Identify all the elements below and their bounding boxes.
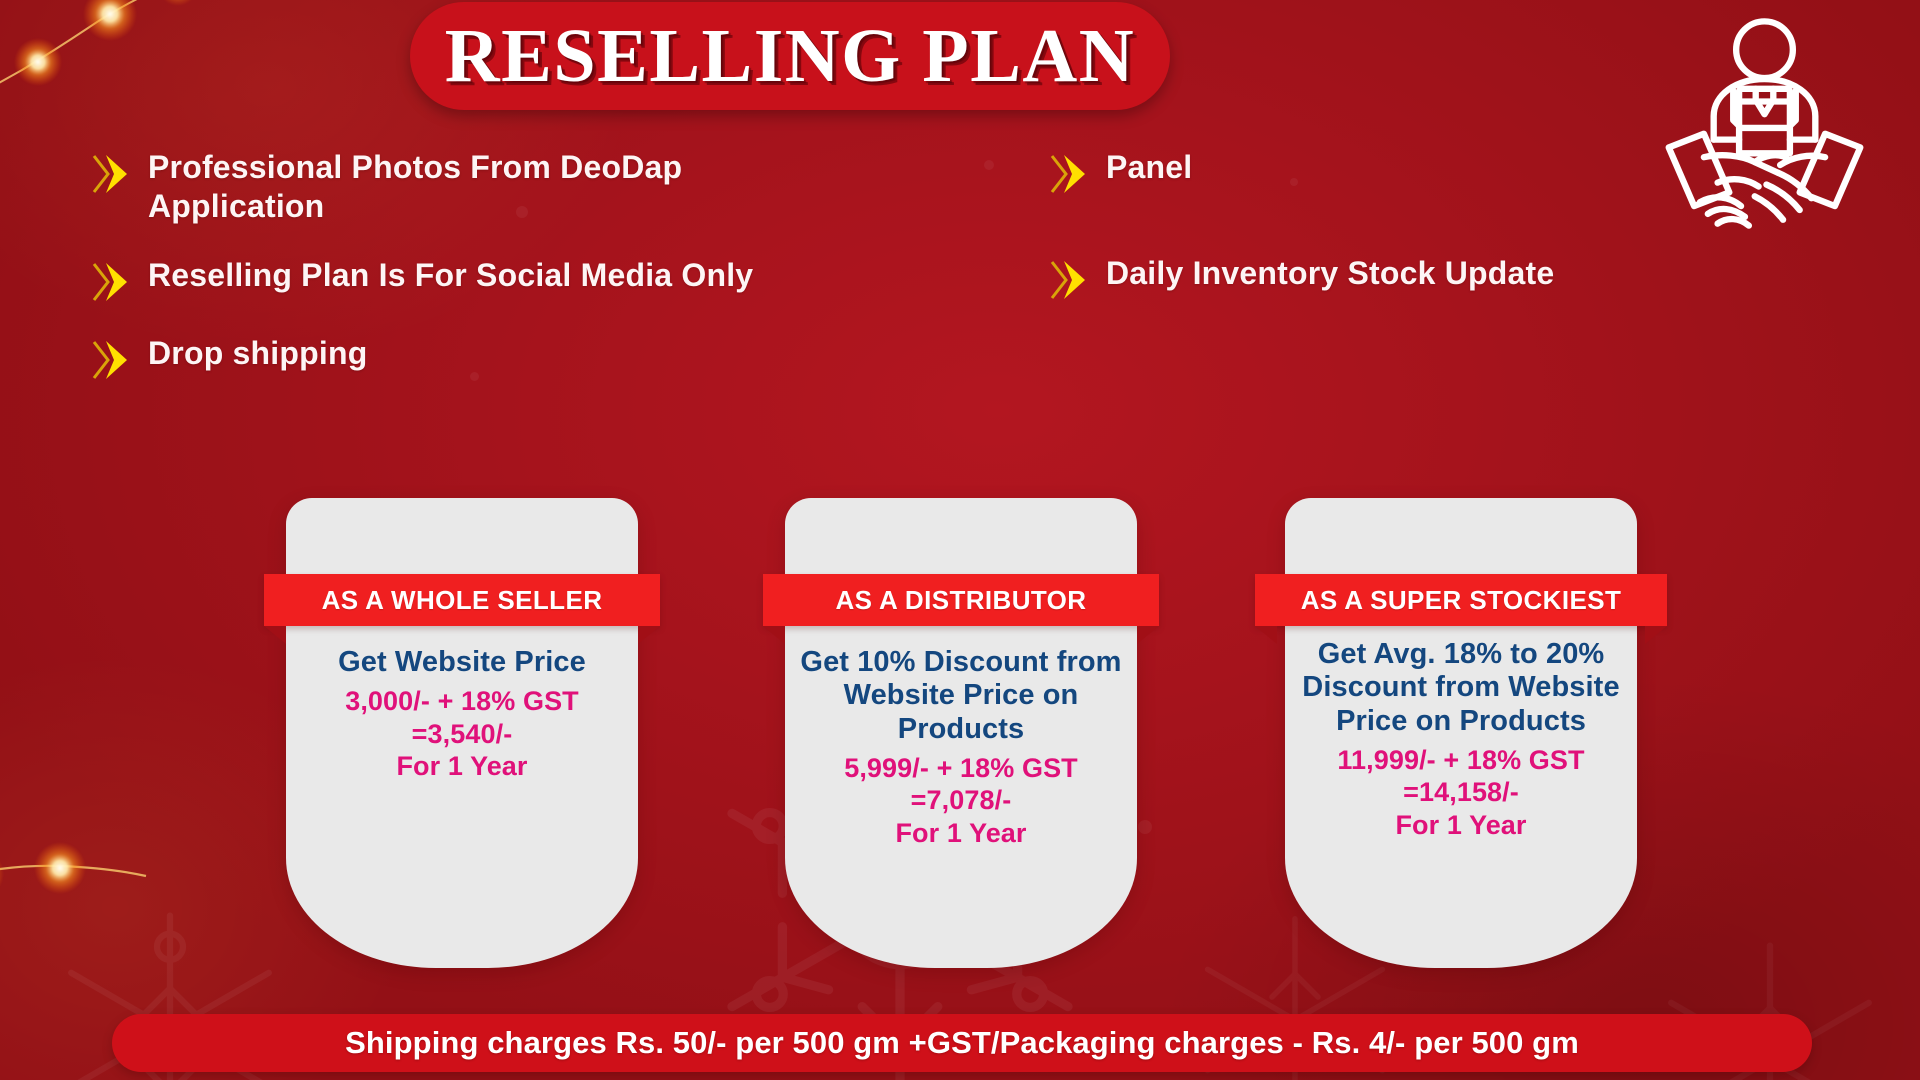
ribbon-fold-left — [1255, 626, 1277, 644]
plan-price-line: 5,999/- + 18% GST — [799, 752, 1123, 784]
footer-note: Shipping charges Rs. 50/- per 500 gm +GS… — [345, 1025, 1579, 1061]
feature-label: Panel — [1106, 148, 1192, 187]
plan-heading: Get Website Price — [300, 646, 624, 679]
plan-ribbon: AS A SUPER STOCKIEST — [1255, 574, 1667, 626]
plan-ribbon-label: AS A DISTRIBUTOR — [835, 585, 1086, 616]
chevron-right-icon — [92, 152, 132, 196]
plan-price-line: For 1 Year — [799, 817, 1123, 849]
feature-item: Reselling Plan Is For Social Media Only — [92, 256, 852, 304]
plan-ribbon: AS A DISTRIBUTOR — [763, 574, 1159, 626]
feature-item: Drop shipping — [92, 334, 852, 382]
plan-ribbon-label: AS A WHOLE SELLER — [322, 585, 603, 616]
chevron-right-icon — [1050, 258, 1090, 302]
bokeh-dot — [984, 160, 994, 170]
feature-label: Drop shipping — [148, 334, 367, 373]
plan-price: 11,999/- + 18% GST =14,158/- For 1 Year — [1299, 744, 1623, 841]
plan-card-content: Get Website Price 3,000/- + 18% GST =3,5… — [300, 646, 624, 783]
plan-price-line: For 1 Year — [1299, 809, 1623, 841]
plan-ribbon-label: AS A SUPER STOCKIEST — [1301, 585, 1622, 616]
plan-price-line: 11,999/- + 18% GST — [1299, 744, 1623, 776]
plan-heading: Get 10% Discount from Website Price on P… — [799, 646, 1123, 746]
ribbon-fold-right — [1137, 626, 1159, 644]
plan-card-super-stockiest[interactable]: AS A SUPER STOCKIEST Get Avg. 18% to 20%… — [1285, 498, 1637, 968]
ribbon-fold-left — [264, 626, 286, 644]
plan-heading: Get Avg. 18% to 20% Discount from Websit… — [1299, 638, 1623, 738]
title-banner: RESELLING PLAN — [410, 2, 1170, 110]
plan-card-content: Get Avg. 18% to 20% Discount from Websit… — [1299, 638, 1623, 841]
plan-card-whole-seller[interactable]: AS A WHOLE SELLER Get Website Price 3,00… — [286, 498, 638, 968]
feature-label: Daily Inventory Stock Update — [1106, 254, 1554, 293]
feature-column-right: Panel Daily Inventory Stock Update — [1050, 148, 1810, 332]
feature-item: Panel — [1050, 148, 1810, 196]
feature-item: Professional Photos From DeoDap Applicat… — [92, 148, 852, 226]
chevron-right-icon — [92, 260, 132, 304]
feature-label: Professional Photos From DeoDap Applicat… — [148, 148, 852, 226]
plan-price-line: =3,540/- — [300, 718, 624, 750]
plan-card-distributor[interactable]: AS A DISTRIBUTOR Get 10% Discount from W… — [785, 498, 1137, 968]
poster-canvas: RESELLING PLAN — [0, 0, 1920, 1080]
feature-column-left: Professional Photos From DeoDap Applicat… — [92, 148, 852, 412]
chevron-right-icon — [1050, 152, 1090, 196]
plan-price: 3,000/- + 18% GST =3,540/- For 1 Year — [300, 685, 624, 782]
ribbon-fold-right — [1645, 626, 1667, 644]
plan-price-line: 3,000/- + 18% GST — [300, 685, 624, 717]
plan-ribbon: AS A WHOLE SELLER — [264, 574, 660, 626]
plan-price-line: =14,158/- — [1299, 776, 1623, 808]
plan-card-content: Get 10% Discount from Website Price on P… — [799, 646, 1123, 849]
feature-label: Reselling Plan Is For Social Media Only — [148, 256, 753, 295]
ribbon-fold-right — [638, 626, 660, 644]
ribbon-fold-left — [763, 626, 785, 644]
plan-cards: AS A WHOLE SELLER Get Website Price 3,00… — [0, 498, 1920, 978]
plan-price-line: =7,078/- — [799, 784, 1123, 816]
feature-item: Daily Inventory Stock Update — [1050, 254, 1810, 302]
page-title: RESELLING PLAN — [445, 18, 1135, 94]
footer-note-bar: Shipping charges Rs. 50/- per 500 gm +GS… — [112, 1014, 1812, 1072]
chevron-right-icon — [92, 338, 132, 382]
plan-price-line: For 1 Year — [300, 750, 624, 782]
plan-price: 5,999/- + 18% GST =7,078/- For 1 Year — [799, 752, 1123, 849]
